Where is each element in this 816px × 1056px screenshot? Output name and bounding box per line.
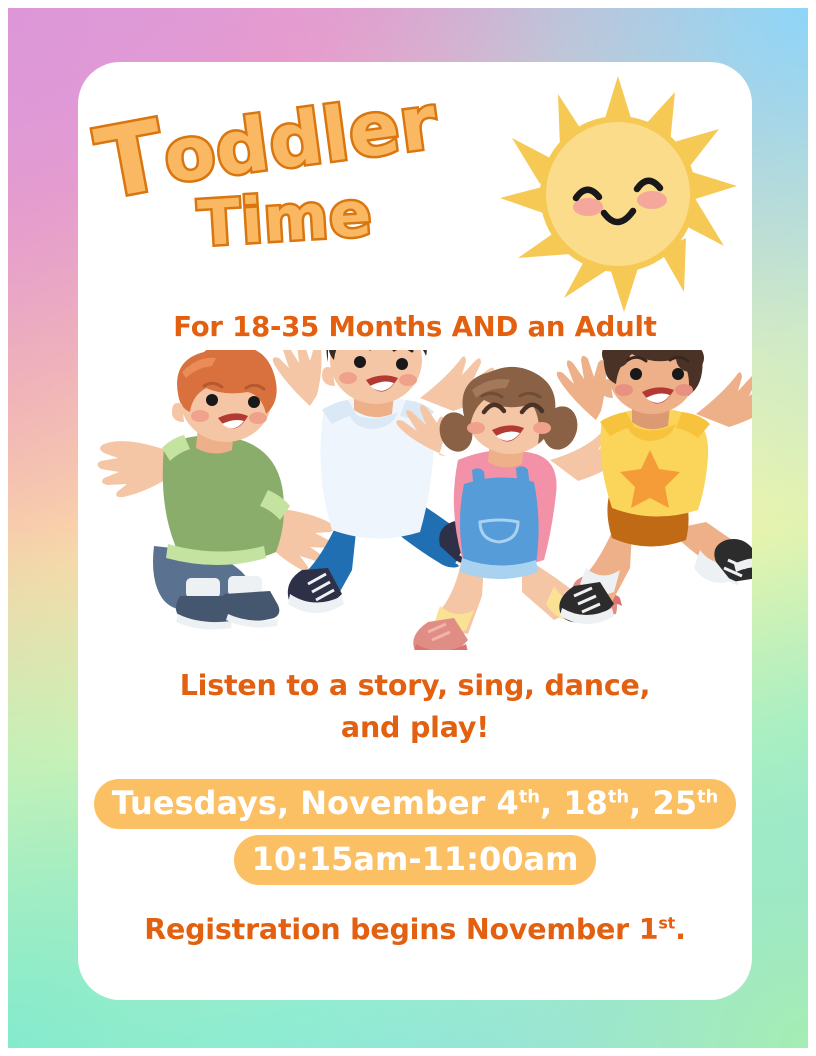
smiling-sun-icon xyxy=(492,70,744,318)
activity-line-two: and play! xyxy=(78,707,752,749)
schedule-dates-sep1: , 18 xyxy=(540,784,608,822)
schedule-dates-highlight: Tuesdays, November 4th, 18th, 25th xyxy=(94,779,737,829)
ordinal-suffix-1st: st xyxy=(658,914,675,933)
ordinal-suffix-25th: th xyxy=(697,786,718,807)
age-requirement-text: For 18-35 Months AND an Adult xyxy=(78,311,752,343)
poster-title: Toddler Time xyxy=(94,74,514,274)
ordinal-suffix-4th: th xyxy=(519,786,540,807)
registration-period: . xyxy=(675,913,686,946)
title-line-two: Time xyxy=(196,177,374,260)
schedule-dates-text: Tuesdays, November 4 xyxy=(112,784,519,822)
poster-page: Toddler Time xyxy=(0,0,816,1056)
registration-text: Registration begins November 1 xyxy=(144,913,658,946)
activity-description: Listen to a story, sing, dance, and play… xyxy=(78,665,752,749)
ordinal-suffix-18th: th xyxy=(608,786,629,807)
schedule-dates-row: Tuesdays, November 4th, 18th, 25th xyxy=(78,777,752,831)
activity-line-one: Listen to a story, sing, dance, xyxy=(78,665,752,707)
schedule-time-highlight: 10:15am-11:00am xyxy=(234,835,597,885)
white-content-card: Toddler Time xyxy=(78,62,752,1000)
registration-note: Registration begins November 1st. xyxy=(78,913,752,946)
jumping-children-illustration xyxy=(78,350,752,650)
jumping-child-yellow-star-shirt xyxy=(557,350,752,624)
schedule-dates-sep2: , 25 xyxy=(629,784,697,822)
schedule-banner: Tuesdays, November 4th, 18th, 25th 10:15… xyxy=(78,777,752,887)
schedule-time-row: 10:15am-11:00am xyxy=(78,833,752,887)
